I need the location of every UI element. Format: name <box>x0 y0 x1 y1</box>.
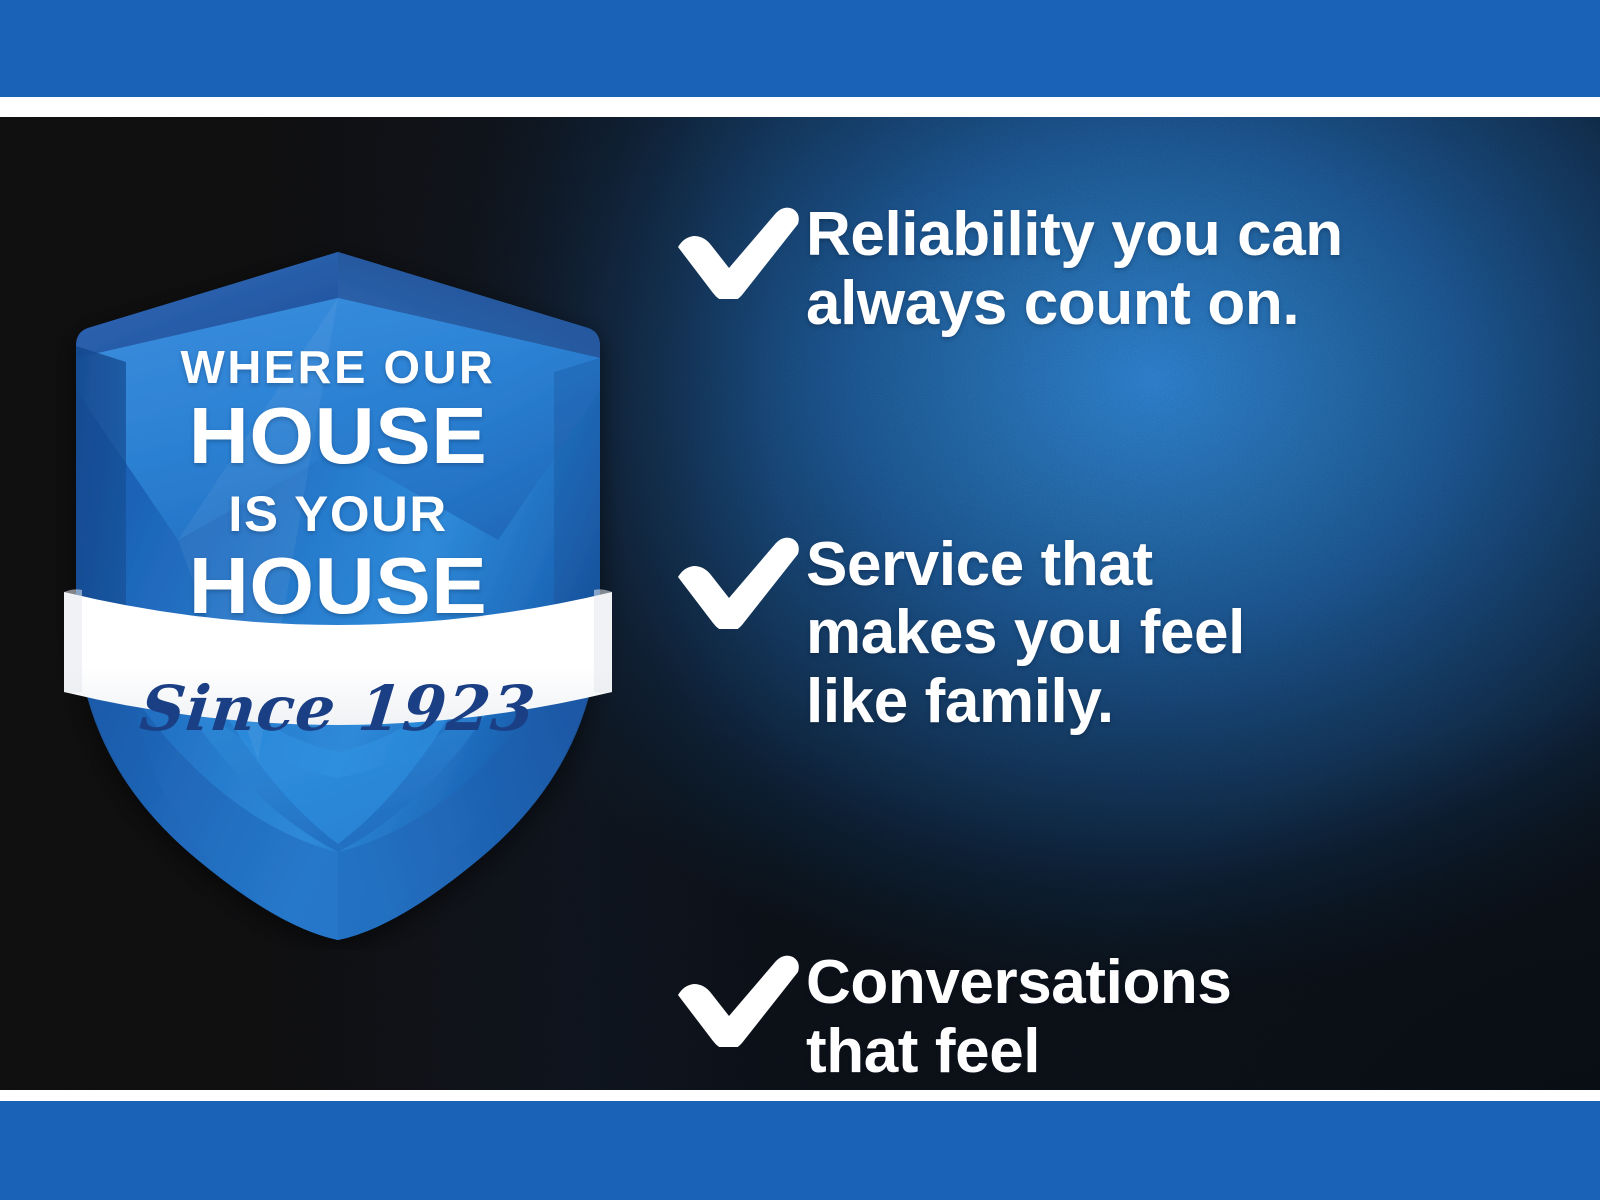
shield-graphic <box>48 240 628 950</box>
benefit-line: Reliability you can <box>806 201 1550 270</box>
benefit-item-conversations: Conversations that feel like home. <box>670 945 1550 1090</box>
benefit-text: Conversations that feel like home. <box>806 945 1550 1090</box>
benefit-text: Service that makes you feel like family. <box>806 527 1550 737</box>
bottom-brand-bar <box>0 1101 1600 1200</box>
promo-graphic: Where Our House Is Your House Since 1923… <box>0 0 1600 1200</box>
benefits-list: Reliability you can always count on. Ser… <box>670 197 1550 1090</box>
check-icon <box>670 951 806 1047</box>
benefit-line: that feel <box>806 1018 1550 1087</box>
benefit-line: Conversations <box>806 949 1550 1018</box>
main-panel: Where Our House Is Your House Since 1923… <box>0 117 1600 1090</box>
benefit-line: always count on. <box>806 270 1550 339</box>
benefit-text: Reliability you can always count on. <box>806 197 1550 339</box>
benefit-line: like home. <box>806 1087 1550 1090</box>
top-brand-bar <box>0 0 1600 97</box>
benefit-item-reliability: Reliability you can always count on. <box>670 197 1550 339</box>
shield-emblem: Where Our House Is Your House Since 1923 <box>48 240 628 950</box>
benefit-item-service: Service that makes you feel like family. <box>670 527 1550 737</box>
check-icon <box>670 533 806 629</box>
check-icon <box>670 203 806 299</box>
benefit-line: like family. <box>806 668 1550 737</box>
benefit-line: Service that <box>806 531 1550 600</box>
benefit-line: makes you feel <box>806 599 1550 668</box>
